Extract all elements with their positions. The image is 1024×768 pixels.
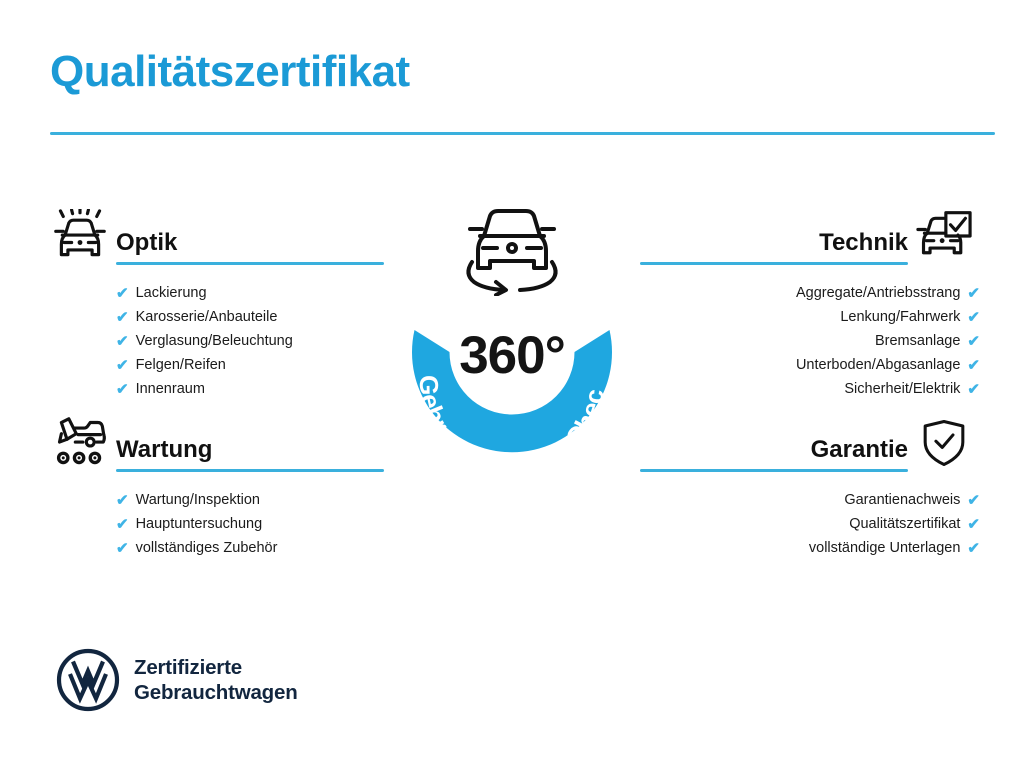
- page-title: Qualitätszertifikat: [50, 48, 410, 96]
- footer-brand-text: Zertifizierte Gebrauchtwagen: [134, 655, 298, 705]
- list-item: Lenkung/Fahrwerk✔: [640, 305, 980, 329]
- section-title-wrap-optik: Optik: [116, 230, 384, 267]
- check-icon: ✔: [967, 310, 980, 325]
- footer-line-1: Zertifizierte: [134, 655, 298, 680]
- list-item: Aggregate/Antriebsstrang✔: [640, 281, 980, 305]
- list-item-label: Felgen/Reifen: [136, 353, 226, 377]
- shield-check-icon: [908, 412, 980, 474]
- section-divider: [640, 469, 908, 472]
- check-icon: ✔: [967, 358, 980, 373]
- list-item: Bremsanlage✔: [640, 329, 980, 353]
- list-item: Sicherheit/Elektrik✔: [640, 377, 980, 401]
- section-title: Technik: [640, 230, 908, 255]
- section-header-wartung: Wartung: [44, 412, 384, 474]
- section-title-wrap-garantie: Garantie: [640, 437, 908, 474]
- service-record-pencil-car-icon: [44, 412, 116, 474]
- section-technik: Technik Aggregate/Antriebsstrang✔ Lenkun…: [640, 205, 980, 401]
- list-item-label: Qualitätszertifikat: [849, 512, 960, 536]
- list-item-label: Wartung/Inspektion: [136, 488, 260, 512]
- list-item: Qualitätszertifikat✔: [640, 512, 980, 536]
- section-optik: Optik ✔Lackierung ✔Karosserie/Anbauteile…: [44, 205, 384, 401]
- check-icon: ✔: [116, 493, 129, 508]
- badge-center-label: 360°: [378, 329, 646, 382]
- list-item-label: Verglasung/Beleuchtung: [136, 329, 293, 353]
- list-item-label: Sicherheit/Elektrik: [844, 377, 960, 401]
- list-item-label: Karosserie/Anbauteile: [136, 305, 278, 329]
- car-front-shine-icon: [44, 205, 116, 267]
- section-list-technik: Aggregate/Antriebsstrang✔ Lenkung/Fahrwe…: [640, 267, 980, 401]
- section-divider: [116, 262, 384, 265]
- list-item: ✔Lackierung: [44, 281, 384, 305]
- check-icon: ✔: [967, 334, 980, 349]
- check-icon: ✔: [967, 541, 980, 556]
- badge-360-gebrauchtwagen-check: Gebrauchtwagen-Check: [378, 196, 646, 496]
- list-item: ✔vollständiges Zubehör: [44, 536, 384, 560]
- list-item: ✔Felgen/Reifen: [44, 353, 384, 377]
- list-item-label: Unterboden/Abgasanlage: [796, 353, 960, 377]
- section-list-wartung: ✔Wartung/Inspektion ✔Hauptuntersuchung ✔…: [44, 474, 384, 560]
- list-item: ✔Hauptuntersuchung: [44, 512, 384, 536]
- section-title: Wartung: [116, 437, 384, 462]
- list-item-label: Hauptuntersuchung: [136, 512, 263, 536]
- section-header-optik: Optik: [44, 205, 384, 267]
- list-item: ✔Verglasung/Beleuchtung: [44, 329, 384, 353]
- list-item-label: vollständige Unterlagen: [809, 536, 961, 560]
- section-list-optik: ✔Lackierung ✔Karosserie/Anbauteile ✔Verg…: [44, 267, 384, 401]
- check-icon: ✔: [116, 358, 129, 373]
- section-title: Optik: [116, 230, 384, 255]
- vw-logo-icon: [56, 648, 120, 712]
- list-item-label: Lackierung: [136, 281, 207, 305]
- check-icon: ✔: [116, 286, 129, 301]
- list-item: Unterboden/Abgasanlage✔: [640, 353, 980, 377]
- section-list-garantie: Garantienachweis✔ Qualitätszertifikat✔ v…: [640, 474, 980, 560]
- check-icon: ✔: [116, 310, 129, 325]
- section-wartung: Wartung ✔Wartung/Inspektion ✔Hauptunters…: [44, 412, 384, 560]
- title-divider: [50, 132, 995, 135]
- list-item-label: Bremsanlage: [875, 329, 960, 353]
- check-icon: ✔: [967, 286, 980, 301]
- list-item: ✔Karosserie/Anbauteile: [44, 305, 384, 329]
- list-item-label: Garantienachweis: [844, 488, 960, 512]
- list-item-label: Aggregate/Antriebsstrang: [796, 281, 960, 305]
- check-icon: ✔: [967, 493, 980, 508]
- car-front-rotate-icon: [452, 196, 572, 296]
- section-divider: [116, 469, 384, 472]
- check-icon: ✔: [116, 382, 129, 397]
- list-item: Garantienachweis✔: [640, 488, 980, 512]
- list-item: ✔Innenraum: [44, 377, 384, 401]
- section-header-technik: Technik: [640, 205, 980, 267]
- check-icon: ✔: [116, 541, 129, 556]
- footer-brand: Zertifizierte Gebrauchtwagen: [56, 648, 298, 712]
- check-icon: ✔: [967, 382, 980, 397]
- car-front-checkbox-icon: [908, 205, 980, 267]
- section-header-garantie: Garantie: [640, 412, 980, 474]
- footer-line-2: Gebrauchtwagen: [134, 680, 298, 705]
- list-item: vollständige Unterlagen✔: [640, 536, 980, 560]
- list-item-label: vollständiges Zubehör: [136, 536, 278, 560]
- section-title-wrap-technik: Technik: [640, 230, 908, 267]
- section-title-wrap-wartung: Wartung: [116, 437, 384, 474]
- section-garantie: Garantie Garantienachweis✔ Qualitätszert…: [640, 412, 980, 560]
- certificate-page: Qualitätszertifikat: [0, 0, 1024, 768]
- list-item-label: Innenraum: [136, 377, 205, 401]
- section-title: Garantie: [640, 437, 908, 462]
- section-divider: [640, 262, 908, 265]
- check-icon: ✔: [967, 517, 980, 532]
- list-item-label: Lenkung/Fahrwerk: [840, 305, 960, 329]
- list-item: ✔Wartung/Inspektion: [44, 488, 384, 512]
- check-icon: ✔: [116, 334, 129, 349]
- check-icon: ✔: [116, 517, 129, 532]
